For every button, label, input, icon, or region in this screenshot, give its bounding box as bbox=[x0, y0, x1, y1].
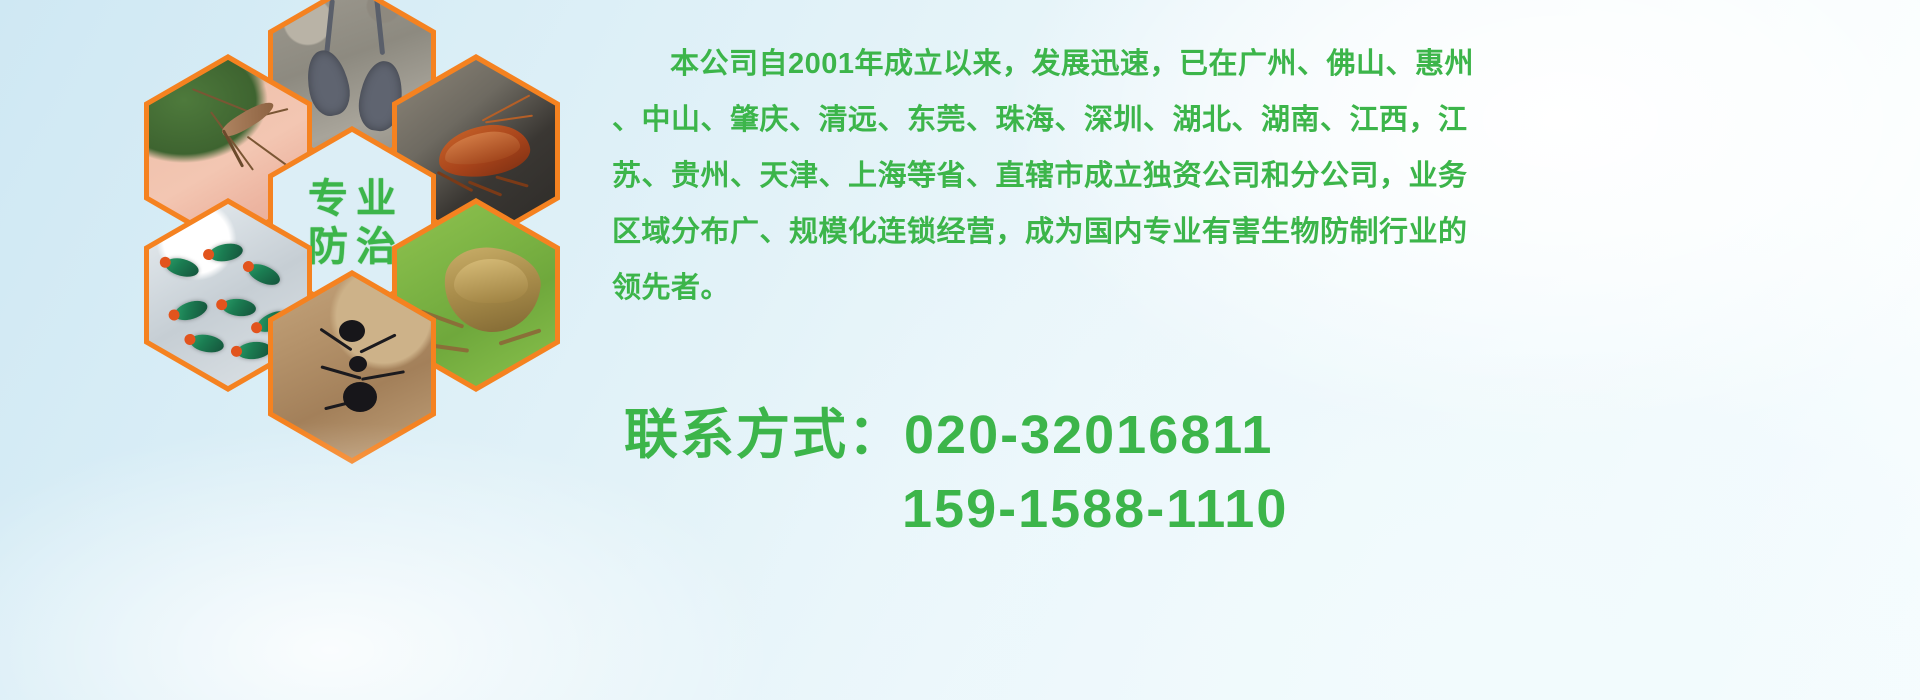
banner-root: 专业 防治 bbox=[0, 0, 1920, 700]
comb-label-line2: 防治 bbox=[300, 226, 404, 268]
comb-label-line1: 专业 bbox=[300, 178, 404, 220]
contact-phone-secondary[interactable]: 159-1588-1110 bbox=[612, 472, 1864, 546]
contact-phone-primary[interactable]: 联系方式：020-32016811 bbox=[612, 398, 1864, 472]
intro-line-2: 、中山、肇庆、清远、东莞、珠海、深圳、湖北、湖南、江西，江 bbox=[612, 92, 1864, 148]
intro-paragraph: 本公司自2001年成立以来，发展迅速，已在广州、佛山、惠州 、中山、肇庆、清远、… bbox=[612, 36, 1864, 316]
intro-line-1: 本公司自2001年成立以来，发展迅速，已在广州、佛山、惠州 bbox=[612, 36, 1864, 92]
contact-block: 联系方式：020-32016811 159-1588-1110 bbox=[612, 398, 1864, 546]
honeycomb-cluster: 专业 防治 bbox=[92, 0, 592, 574]
intro-line-5: 领先者。 bbox=[612, 260, 1864, 316]
intro-line-4: 区域分布广、规模化连锁经营，成为国内专业有害生物防制行业的 bbox=[612, 204, 1864, 260]
intro-line-3: 苏、贵州、天津、上海等省、直辖市成立独资公司和分公司，业务 bbox=[612, 148, 1864, 204]
ant-photo bbox=[273, 276, 431, 458]
hex-photo-frame bbox=[273, 276, 431, 458]
